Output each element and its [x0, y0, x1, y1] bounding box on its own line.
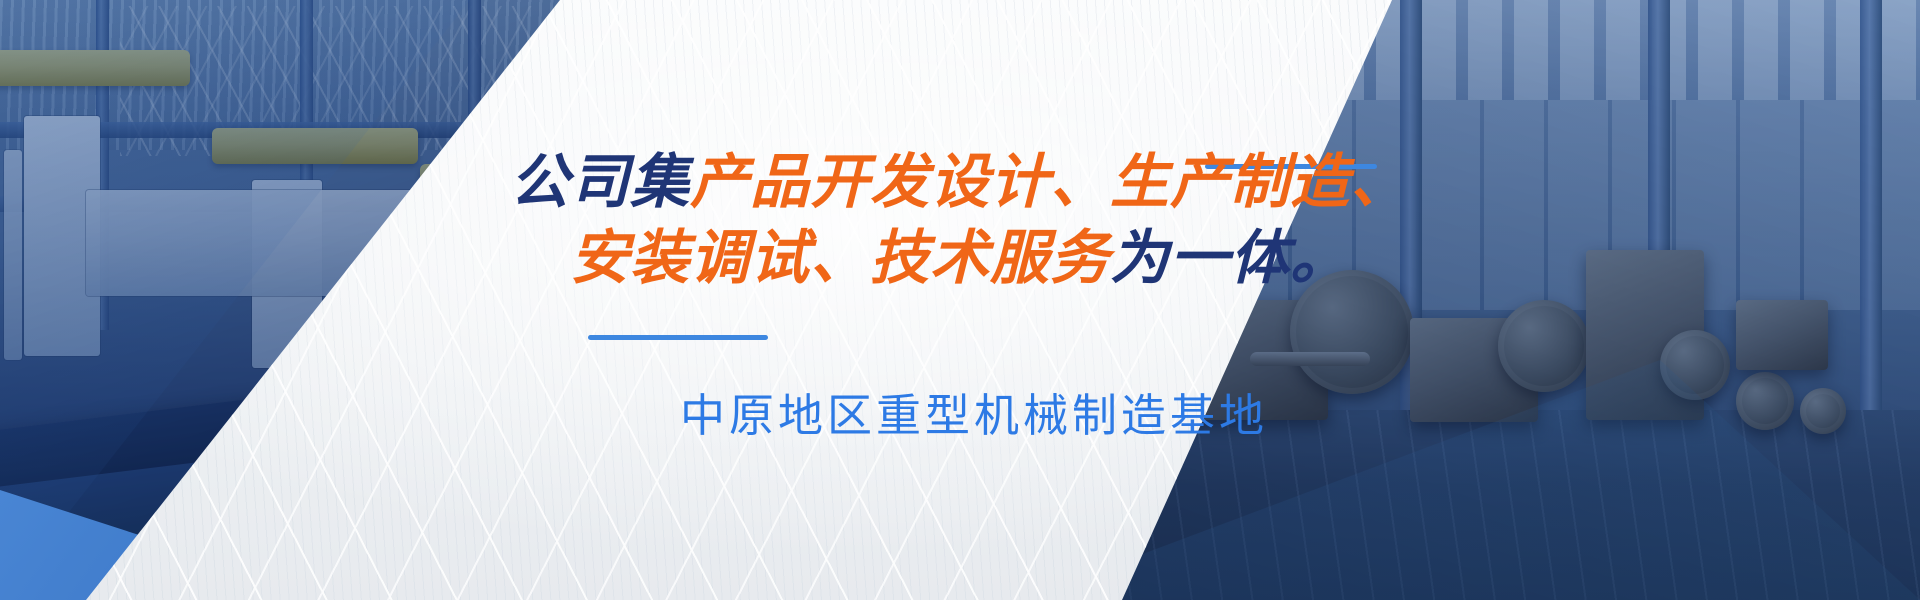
hero-banner: 公司集产品开发设计、生产制造、 安装调试、技术服务为一体。 中原地区重型机械制造… [0, 0, 1920, 600]
headline-line2-suffix: 为一体。 [1110, 225, 1350, 291]
subtitle-text: 中原地区重型机械制造基地 [680, 390, 1268, 441]
headline: 公司集产品开发设计、生产制造、 安装调试、技术服务为一体。 [0, 144, 1920, 296]
headline-line1-prefix: 公司集 [510, 149, 690, 215]
headline-line2-highlight: 安装调试、技术服务 [570, 225, 1110, 291]
headline-line-2: 安装调试、技术服务为一体。 [0, 220, 1920, 296]
headline-line1-highlight: 产品开发设计、生产制造、 [690, 149, 1410, 215]
subtitle: 中原地区重型机械制造基地 [0, 340, 1920, 400]
headline-line-1: 公司集产品开发设计、生产制造、 [0, 144, 1920, 220]
banner-content: 公司集产品开发设计、生产制造、 安装调试、技术服务为一体。 中原地区重型机械制造… [0, 0, 1920, 600]
